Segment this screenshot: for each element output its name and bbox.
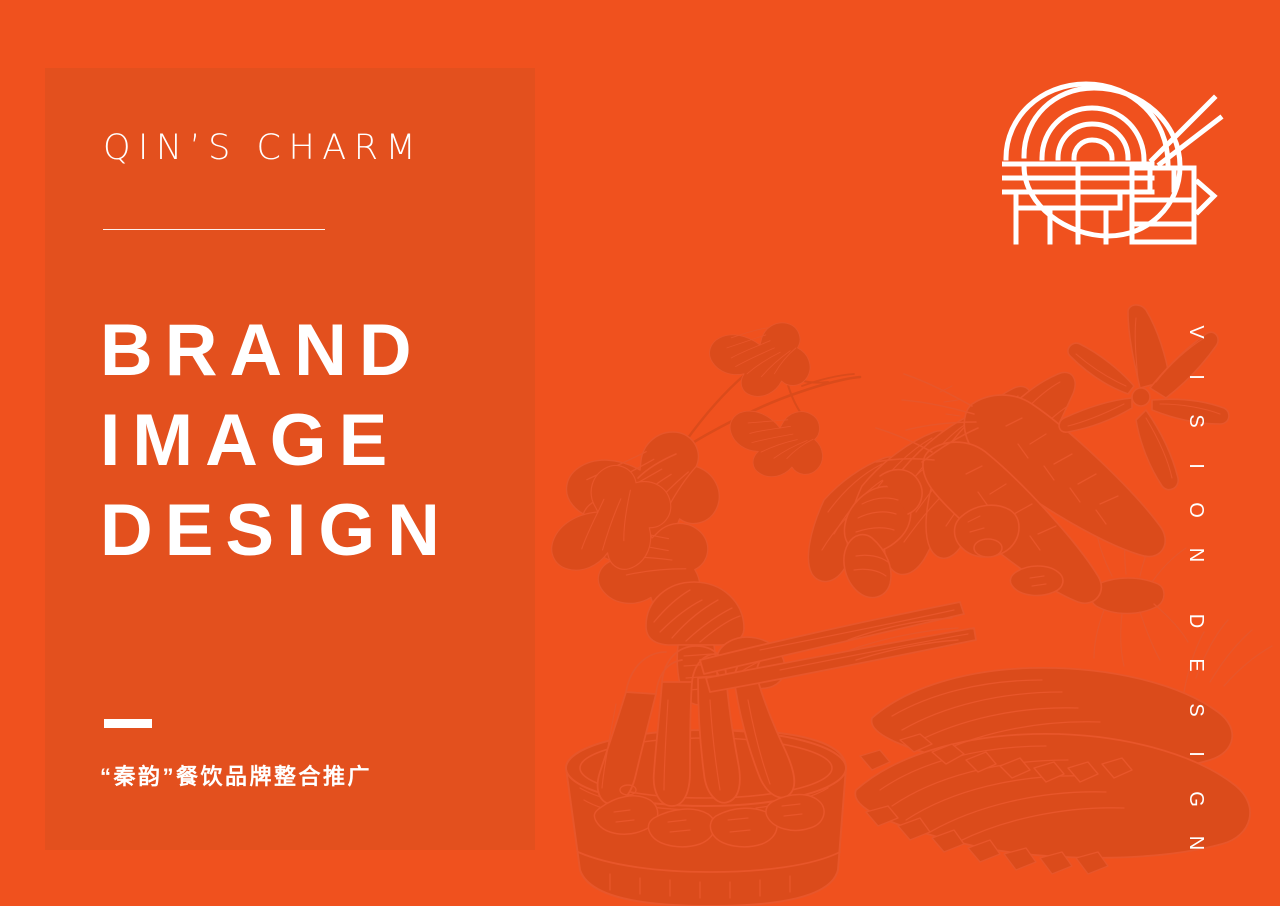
brand-logo <box>1002 78 1224 248</box>
vertical-char: O <box>1186 490 1206 530</box>
vertical-char: I <box>1186 357 1206 397</box>
vertical-char: S <box>1186 690 1206 730</box>
vertical-vision-design: V I S I O N D E S I G N <box>1176 322 1216 878</box>
vertical-char: N <box>1186 823 1206 863</box>
vertical-char: E <box>1186 645 1206 685</box>
vertical-char: G <box>1186 779 1206 819</box>
headline-line-3: DESIGN <box>100 486 520 576</box>
accent-dash <box>104 719 152 728</box>
headline-line-1: BRAND <box>100 306 520 396</box>
headline-line-2: IMAGE <box>100 396 520 486</box>
vertical-char: D <box>1186 601 1206 641</box>
vertical-char: I <box>1186 734 1206 774</box>
divider-rule <box>103 229 325 230</box>
vertical-char: I <box>1186 446 1206 486</box>
brandmark-qins-charm: QIN’S CHARM <box>103 131 423 166</box>
poster-canvas: QIN’S CHARM BRAND IMAGE DESIGN “秦韵”餐饮品牌整… <box>0 0 1280 906</box>
subtitle-chinese: “秦韵”餐饮品牌整合推广 <box>100 766 372 788</box>
vertical-char: V <box>1186 312 1206 352</box>
page-title: BRAND IMAGE DESIGN <box>100 306 520 575</box>
vertical-char: N <box>1186 535 1206 575</box>
vertical-char: S <box>1186 401 1206 441</box>
